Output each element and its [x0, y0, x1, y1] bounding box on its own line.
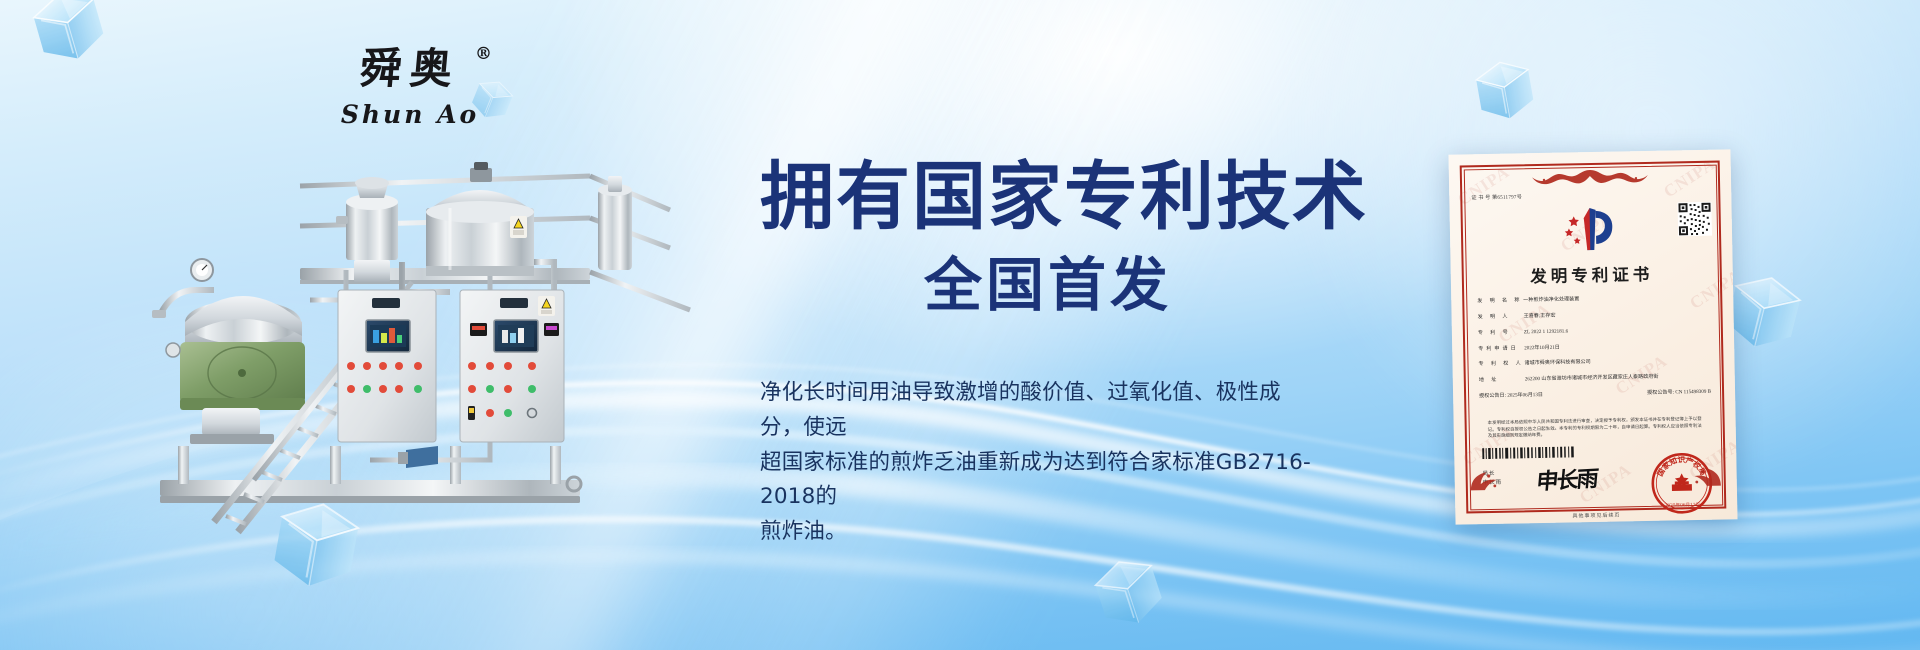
certificate-grant-row: 授权公告日: 2025年06月13日 授权公告号: CN 115498309 B [1479, 389, 1711, 400]
oil-purification-machine-image [150, 150, 710, 550]
brand-logo-cn: 舜奥 [328, 48, 492, 90]
certificate-field-row: 地 址 262200 山东省潍坊市诸城市经济开发区藏家庄人泰路政府街 [1479, 373, 1711, 384]
certificate-barcode [1482, 446, 1576, 459]
registered-trademark-icon: ® [475, 44, 492, 64]
certificate-corner-ornament-left [1468, 462, 1503, 493]
certificate-field-row: 发 明 名 称 一种煎炸油净化处理装置 [1477, 294, 1709, 305]
centrifugal-separator [152, 259, 305, 444]
warning-label-tank [510, 216, 527, 238]
hero-description: 净化长时间用油导致激增的酸价值、过氧化值、极性成分，使远 超国家标准的煎炸乏油重… [760, 376, 1320, 550]
brand-logo-en: Shun Ao [330, 100, 490, 129]
certificate-field-row: 专利申请日 2022年10月21日 [1478, 341, 1710, 352]
cnipa-emblem-icon [1559, 203, 1622, 254]
page-title: 拥有国家专利技术 [760, 160, 1360, 234]
certificate-corner-ornament-right [1688, 458, 1723, 489]
certificate-title: 发明专利证书 [1469, 260, 1715, 289]
brand-logo: 舜奥 ® Shun Ao [330, 48, 490, 140]
machine-base [160, 446, 580, 503]
control-cabinet-right [460, 290, 564, 442]
control-cabinet-left [338, 290, 436, 442]
certificate-fields: 发 明 名 称 一种煎炸油净化处理装置 发 明 人 王喜春;王存宏 专 利 号 … [1477, 294, 1711, 400]
patent-certificate-image: CNIPA CNIPA CNIPA CNIPA CNIPA CNIPA CNIP… [1448, 149, 1737, 524]
certificate-field-row: 专 利 号 ZL 2022 1 1292181.6 [1478, 325, 1710, 336]
warning-label-cabinet [538, 296, 555, 316]
certificate-field-row: 专 利 权 人 诸城市舜奥环保科技有限公司 [1478, 357, 1710, 368]
hero-banner: 舜奥 ® Shun Ao [0, 0, 1920, 650]
certificate-top-ornament [1530, 167, 1650, 189]
hero-copy: 拥有国家专利技术 全国首发 净化长时间用油导致激增的酸价值、过氧化值、极性成分，… [760, 160, 1360, 550]
certificate-qr-code [1677, 202, 1712, 237]
certificate-signature: 申长雨 [1535, 461, 1598, 496]
blue-valve [398, 446, 438, 468]
svg-text:2025年06月13日: 2025年06月13日 [1664, 501, 1700, 509]
certificate-number: 证 书 号 第6511797号 [1471, 193, 1522, 201]
certificate-field-row: 发 明 人 王喜春;王存宏 [1478, 310, 1710, 321]
small-tank [336, 177, 398, 282]
right-column-tank [598, 176, 632, 270]
certificate-paragraph: 本发明经过本局依照中华人民共和国专利法进行审查，决定授予专利权，颁发本证书并在专… [1488, 416, 1702, 440]
ice-cube-icon [1467, 53, 1543, 129]
hero-description-line-3: 煎炸油。 [760, 515, 1320, 550]
hero-description-line-2: 超国家标准的煎炸乏油重新成为达到符合家标准GB2716-2018的 [760, 446, 1320, 516]
hero-description-line-1: 净化长时间用油导致激增的酸价值、过氧化值、极性成分，使远 [760, 376, 1320, 446]
page-subtitle: 全国首发 [760, 256, 1360, 314]
